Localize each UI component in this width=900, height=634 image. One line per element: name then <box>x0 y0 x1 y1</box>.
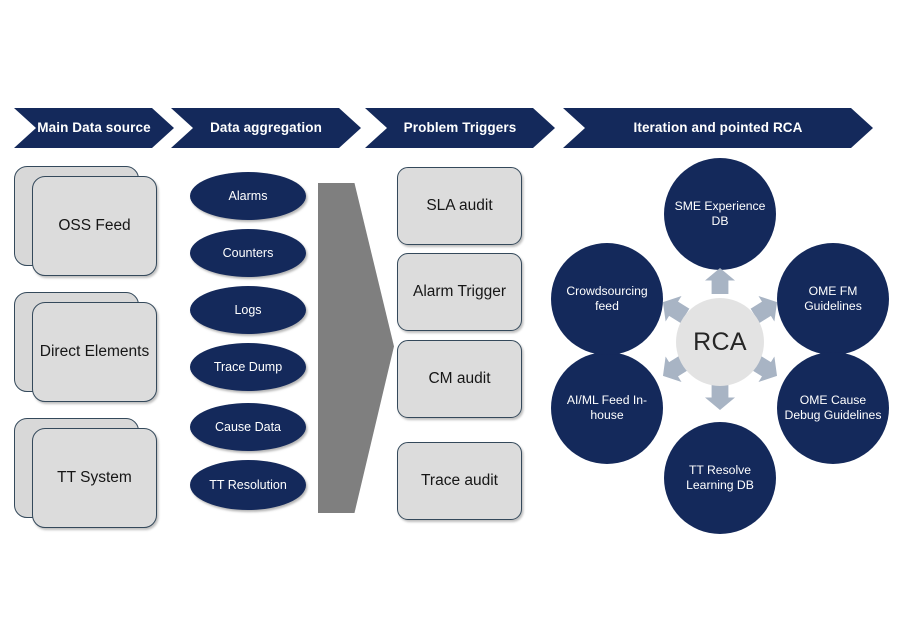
aggregation-label: Alarms <box>229 189 268 204</box>
aggregation-label: Trace Dump <box>214 360 282 375</box>
banner-label: Problem Triggers <box>371 120 549 136</box>
data-source-label: TT System <box>57 468 132 487</box>
data-source-label: OSS Feed <box>58 216 130 235</box>
rca-node-ai-ml-feed-in-house[interactable]: AI/ML Feed In-house <box>551 352 663 464</box>
rca-node-label: TT Resolve Learning DB <box>670 463 770 494</box>
problem-trigger-label: CM audit <box>428 369 490 388</box>
rca-arrow-down-icon <box>705 384 735 410</box>
aggregation-label: Cause Data <box>215 420 281 435</box>
rca-node-ome-fm-guidelines[interactable]: OME FM Guidelines <box>777 243 889 355</box>
rca-node-label: SME Experience DB <box>670 199 770 230</box>
rca-arrow-up-icon <box>705 268 735 294</box>
data-source-label: Direct Elements <box>40 342 149 361</box>
aggregation-label: TT Resolution <box>209 478 287 493</box>
rca-node-ome-cause-debug-guidelines[interactable]: OME Cause Debug Guidelines <box>777 352 889 464</box>
funnel-arrow <box>318 183 394 513</box>
stack-front-box[interactable]: TT System <box>32 428 157 528</box>
banner-problem-triggers[interactable]: Problem Triggers <box>365 108 555 148</box>
aggregation-item-logs[interactable]: Logs <box>190 286 306 334</box>
stack-front-box[interactable]: Direct Elements <box>32 302 157 402</box>
problem-trigger-label: Trace audit <box>421 471 498 490</box>
rca-node-label: OME FM Guidelines <box>783 284 883 315</box>
problem-trigger-trace-audit[interactable]: Trace audit <box>397 442 522 520</box>
rca-node-label: OME Cause Debug Guidelines <box>783 393 883 424</box>
problem-trigger-label: Alarm Trigger <box>413 282 506 301</box>
problem-trigger-cm-audit[interactable]: CM audit <box>397 340 522 418</box>
diagram-canvas: Main Data source Data aggregation Proble… <box>0 0 900 634</box>
problem-trigger-label: SLA audit <box>426 196 492 215</box>
aggregation-item-trace-dump[interactable]: Trace Dump <box>190 343 306 391</box>
stack-front-box[interactable]: OSS Feed <box>32 176 157 276</box>
aggregation-label: Counters <box>223 246 274 261</box>
banner-label: Data aggregation <box>177 120 355 136</box>
problem-trigger-alarm-trigger[interactable]: Alarm Trigger <box>397 253 522 331</box>
aggregation-item-alarms[interactable]: Alarms <box>190 172 306 220</box>
aggregation-item-tt-resolution[interactable]: TT Resolution <box>190 460 306 510</box>
rca-node-tt-resolve-learning-db[interactable]: TT Resolve Learning DB <box>664 422 776 534</box>
banner-iteration-pointed-rca[interactable]: Iteration and pointed RCA <box>563 108 873 148</box>
main-data-source-group: OSS Feed Direct Elements TT System <box>0 0 200 634</box>
aggregation-item-cause-data[interactable]: Cause Data <box>190 403 306 451</box>
problem-trigger-sla-audit[interactable]: SLA audit <box>397 167 522 245</box>
rca-node-label: AI/ML Feed In-house <box>557 393 657 424</box>
rca-node-label: Crowdsourcing feed <box>557 284 657 315</box>
aggregation-item-counters[interactable]: Counters <box>190 229 306 277</box>
rca-node-sme-experience-db[interactable]: SME Experience DB <box>664 158 776 270</box>
aggregation-label: Logs <box>234 303 261 318</box>
banner-label: Iteration and pointed RCA <box>569 120 867 136</box>
rca-hub[interactable]: RCA <box>676 298 764 386</box>
rca-hub-label: RCA <box>693 328 747 357</box>
rca-node-crowdsourcing-feed[interactable]: Crowdsourcing feed <box>551 243 663 355</box>
